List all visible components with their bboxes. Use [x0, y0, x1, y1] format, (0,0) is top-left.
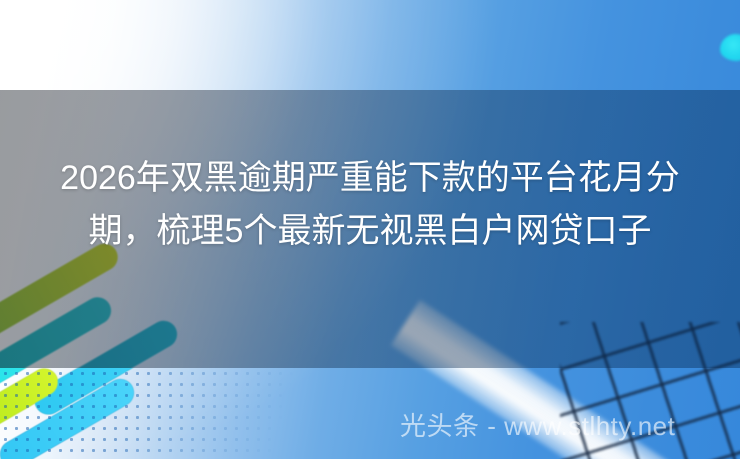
cover-headline: 2026年双黑逾期严重能下款的平台花月分期，梳理5个最新无视黑白户网贷口子: [44, 152, 696, 258]
article-cover-card: 2026年双黑逾期严重能下款的平台花月分期，梳理5个最新无视黑白户网贷口子 光头…: [0, 0, 740, 459]
site-watermark: 光头条 - www.stlhty.net: [400, 410, 675, 442]
halftone-dot-field: [0, 368, 320, 459]
